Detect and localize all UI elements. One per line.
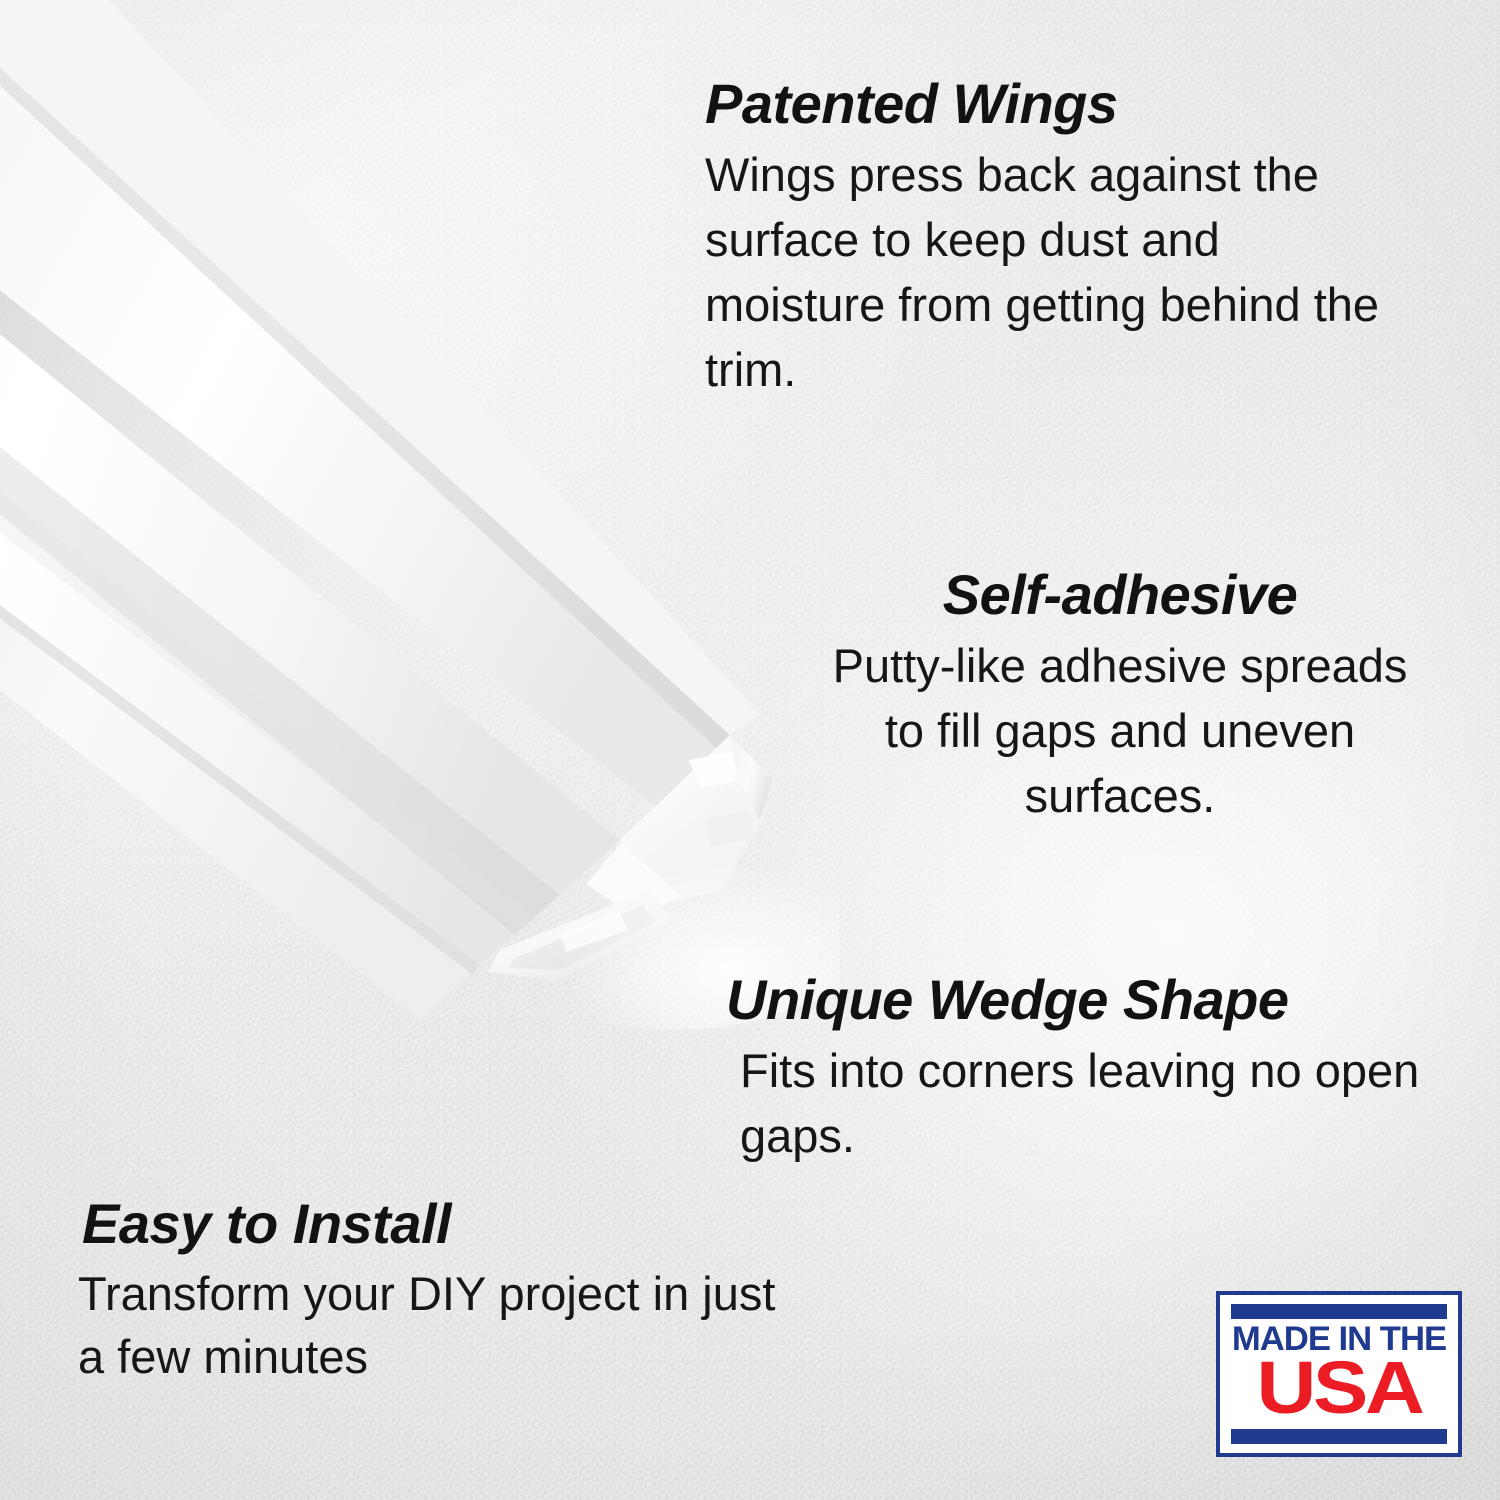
badge-bottom-rule	[1231, 1429, 1447, 1444]
feature-heading-patented-wings: Patented Wings	[705, 72, 1385, 136]
feature-block-easy-to-install: Easy to Install Transform your DIY proje…	[82, 1192, 802, 1388]
badge-top-rule	[1231, 1304, 1447, 1319]
made-in-usa-badge: MADE IN THE USA	[1216, 1291, 1462, 1457]
feature-body-self-adhesive: Putty-like adhesive spreads to fill gaps…	[820, 633, 1420, 828]
feature-heading-easy-to-install: Easy to Install	[82, 1192, 802, 1256]
feature-body-unique-wedge-shape: Fits into corners leaving no open gaps.	[740, 1038, 1460, 1168]
feature-block-unique-wedge-shape: Unique Wedge Shape Fits into corners lea…	[740, 968, 1460, 1168]
feature-heading-unique-wedge-shape: Unique Wedge Shape	[726, 968, 1460, 1032]
product-feature-infographic: Patented Wings Wings press back against …	[0, 0, 1500, 1500]
feature-body-patented-wings: Wings press back against the surface to …	[705, 142, 1385, 402]
feature-block-self-adhesive: Self-adhesive Putty-like adhesive spread…	[820, 563, 1420, 828]
feature-block-patented-wings: Patented Wings Wings press back against …	[705, 72, 1385, 402]
feature-heading-self-adhesive: Self-adhesive	[820, 563, 1420, 627]
feature-body-easy-to-install: Transform your DIY project in just a few…	[78, 1262, 802, 1388]
badge-usa-text: USA	[1218, 1353, 1460, 1429]
